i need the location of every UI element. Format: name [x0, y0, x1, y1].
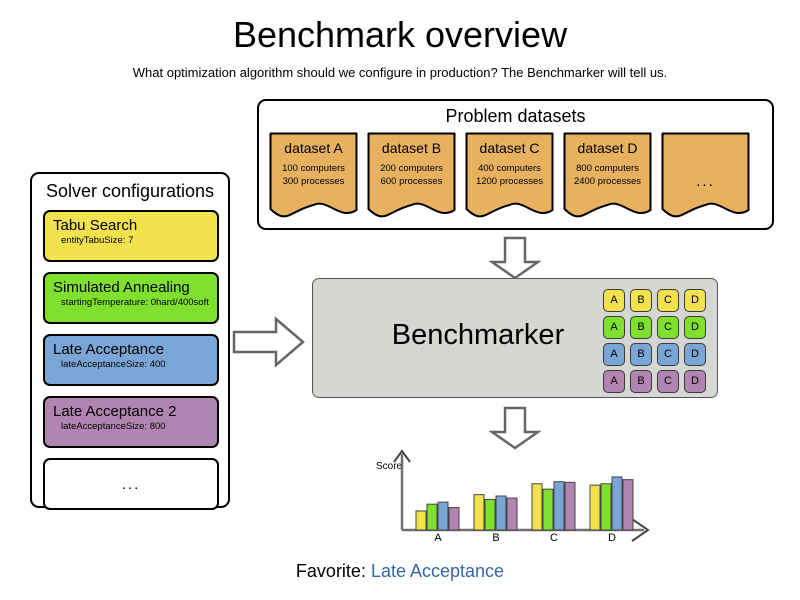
benchmark-cell: B: [630, 343, 652, 366]
solver-config-name: Late Acceptance 2: [53, 402, 217, 421]
dataset-card-shape: [661, 132, 750, 222]
dataset-card-more[interactable]: ...: [661, 132, 750, 222]
solver-config-param: lateAcceptanceSize: 800: [53, 421, 217, 433]
benchmark-cell: D: [684, 343, 706, 366]
benchmark-cell: C: [657, 343, 679, 366]
solver-config-card[interactable]: Tabu SearchentityTabuSize: 7: [43, 210, 219, 262]
benchmark-cell: A: [603, 370, 625, 393]
chart-bar: [449, 508, 459, 530]
dataset-card-shape: [465, 132, 554, 222]
chart-bar: [623, 480, 633, 530]
benchmark-cell: C: [657, 370, 679, 393]
solver-configurations-title: Solver configurations: [32, 180, 228, 202]
dataset-card[interactable]: dataset B200 computers600 processes: [367, 132, 456, 222]
chart-x-tick: A: [418, 532, 458, 545]
benchmark-cell: D: [684, 289, 706, 312]
dataset-card-shape: [367, 132, 456, 222]
benchmark-result-chart: Score ABCD: [374, 448, 654, 548]
solver-config-name: Simulated Annealing: [53, 278, 217, 297]
arrow-right-icon: [232, 316, 306, 373]
benchmark-cell: D: [684, 316, 706, 339]
dataset-card-list: dataset A100 computers300 processesdatas…: [269, 132, 750, 222]
benchmark-cell: A: [603, 343, 625, 366]
chart-bar: [474, 495, 484, 530]
solver-config-param: startingTemperature: 0hard/400soft: [53, 297, 217, 309]
chart-bar: [485, 499, 495, 530]
dataset-card[interactable]: dataset C400 computers1200 processes: [465, 132, 554, 222]
favorite-line: Favorite: Late Acceptance: [0, 560, 800, 582]
chart-bar: [507, 498, 517, 530]
chart-bar: [601, 484, 611, 530]
solver-config-param: entityTabuSize: 7: [53, 235, 217, 247]
solver-config-card[interactable]: Simulated AnnealingstartingTemperature: …: [43, 272, 219, 324]
chart-x-tick: D: [592, 532, 632, 545]
dataset-card[interactable]: dataset D800 computers2400 processes: [563, 132, 652, 222]
solver-config-name: Late Acceptance: [53, 340, 217, 359]
benchmark-cell: A: [603, 316, 625, 339]
solver-config-name: Tabu Search: [53, 216, 217, 235]
benchmarker-label: Benchmarker: [353, 317, 603, 353]
chart-bar: [532, 484, 542, 530]
chart-bar: [427, 504, 437, 530]
problem-datasets-title: Problem datasets: [259, 105, 772, 127]
chart-bar: [565, 482, 575, 530]
diagram-canvas: Benchmark overview What optimization alg…: [0, 0, 800, 600]
benchmark-cell: A: [603, 289, 625, 312]
benchmark-cell: B: [630, 370, 652, 393]
chart-x-tick: B: [476, 532, 516, 545]
dataset-card-shape: [269, 132, 358, 222]
solver-config-card[interactable]: Late Acceptance 2lateAcceptanceSize: 800: [43, 396, 219, 448]
benchmarker-box: Benchmarker ABCDABCDABCDABCD: [312, 278, 718, 398]
chart-bar: [496, 496, 506, 530]
benchmark-cell: C: [657, 289, 679, 312]
benchmark-cell: B: [630, 289, 652, 312]
benchmark-result-grid: ABCDABCDABCDABCD: [603, 289, 706, 393]
solver-configurations-panel: Solver configurations Tabu SearchentityT…: [30, 172, 230, 508]
page-subtitle: What optimization algorithm should we co…: [0, 65, 800, 81]
chart-x-tick: C: [534, 532, 574, 545]
problem-datasets-panel: Problem datasets dataset A100 computers3…: [257, 99, 774, 230]
chart-bar: [543, 489, 553, 530]
chart-bar: [554, 482, 564, 530]
dataset-card-shape: [563, 132, 652, 222]
solver-config-param: lateAcceptanceSize: 400: [53, 359, 217, 371]
dataset-card[interactable]: dataset A100 computers300 processes: [269, 132, 358, 222]
benchmark-cell: D: [684, 370, 706, 393]
chart-bar: [590, 485, 600, 530]
favorite-label: Favorite:: [296, 561, 371, 581]
page-title: Benchmark overview: [0, 14, 800, 56]
solver-configuration-list: Tabu SearchentityTabuSize: 7Simulated An…: [43, 210, 219, 510]
solver-config-card[interactable]: Late AcceptancelateAcceptanceSize: 400: [43, 334, 219, 386]
chart-bar: [438, 502, 448, 530]
benchmark-cell: C: [657, 316, 679, 339]
benchmark-cell: B: [630, 316, 652, 339]
chart-bar: [416, 511, 426, 530]
favorite-value: Late Acceptance: [371, 561, 504, 581]
solver-config-more[interactable]: ...: [43, 458, 219, 510]
chart-bar: [612, 477, 622, 530]
